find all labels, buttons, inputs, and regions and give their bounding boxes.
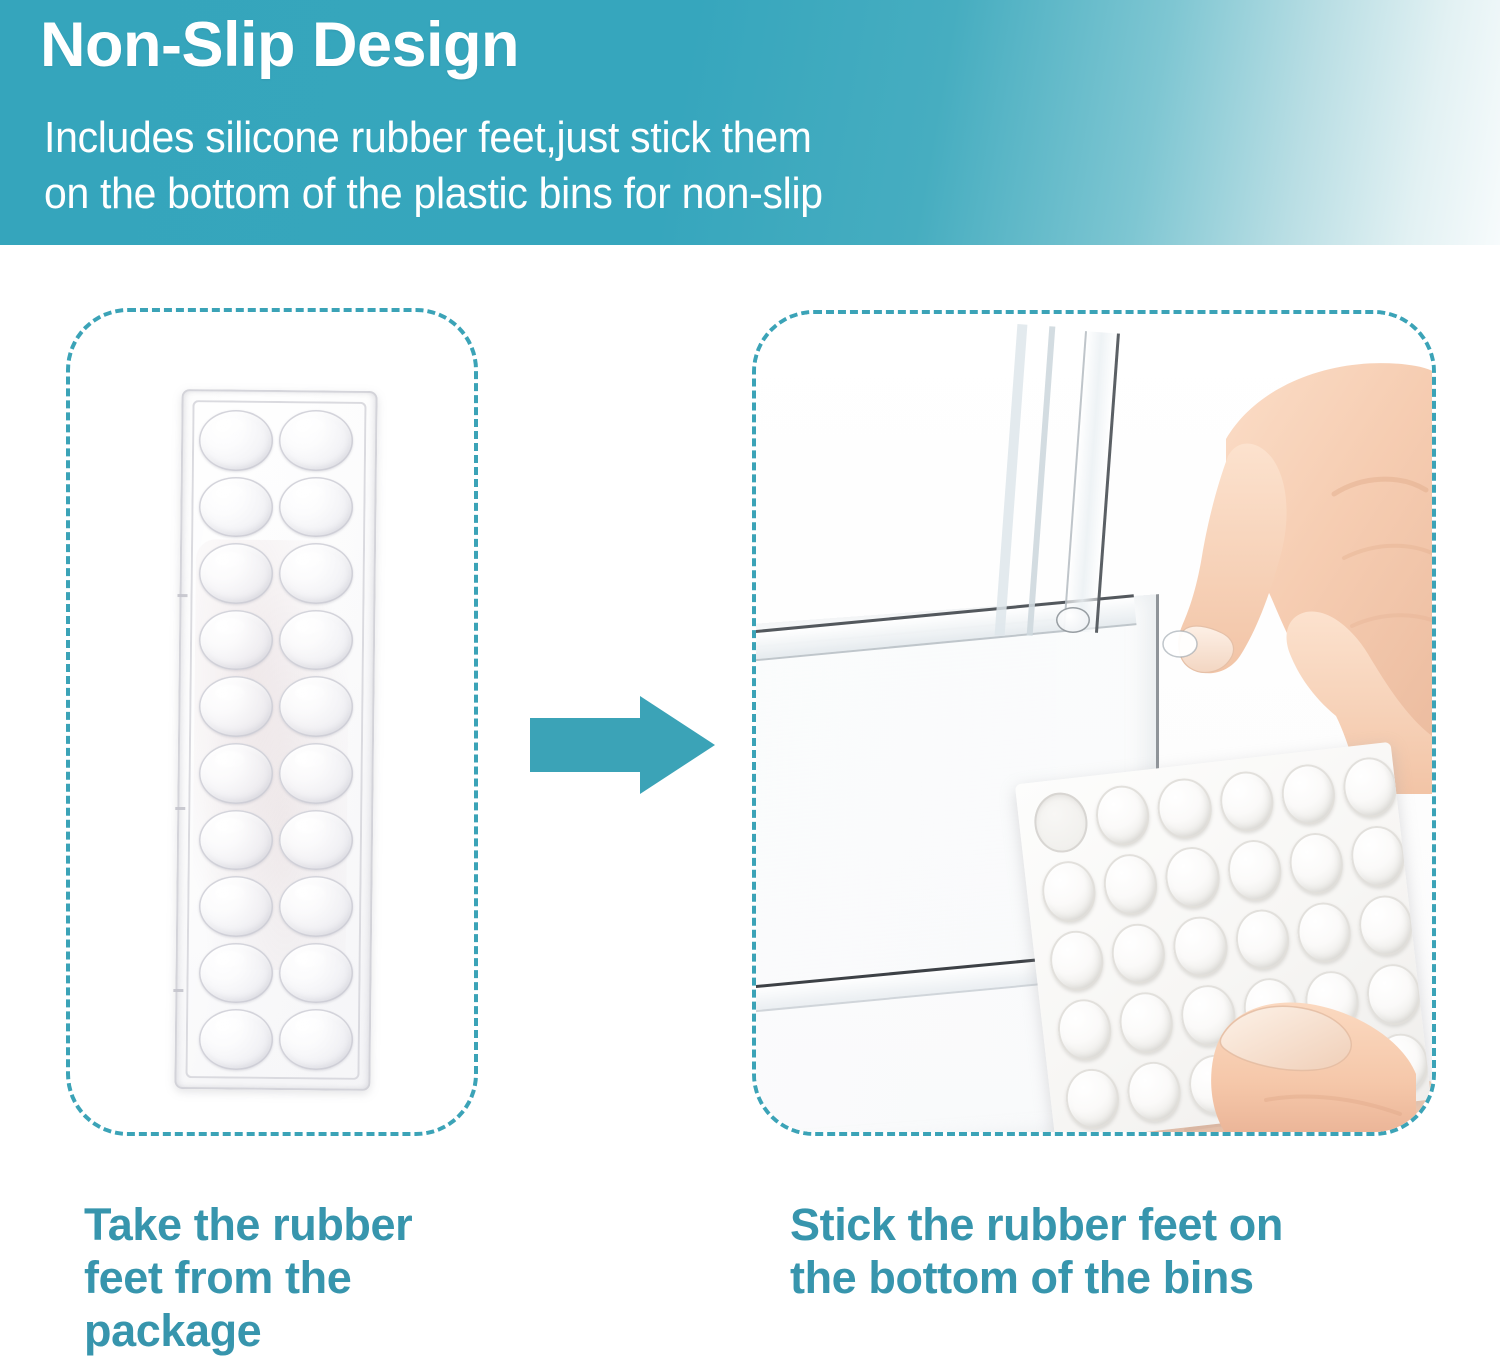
- rubber-foot-dome: [279, 1009, 353, 1070]
- hand-pinching-foot: [1076, 344, 1432, 794]
- rubber-foot-dome: [199, 543, 273, 604]
- bumper-pad: [1063, 1066, 1123, 1132]
- rubber-foot-dome: [199, 610, 273, 671]
- caption-right-line-2: the bottom of the bins: [790, 1251, 1450, 1304]
- bumper-pad: [1170, 914, 1230, 980]
- bumper-pad: [1286, 831, 1346, 897]
- rubber-foot-dome: [199, 1009, 273, 1070]
- rubber-foot-dome: [279, 810, 353, 871]
- caption-left-line-3: package: [84, 1304, 514, 1357]
- header-subtitle-line-1: Includes silicone rubber feet,just stick…: [44, 110, 1021, 166]
- bumper-pad: [1155, 776, 1215, 842]
- rubber-foot-dome: [199, 810, 273, 871]
- bumper-pad: [1217, 769, 1277, 835]
- bumper-pad: [1163, 845, 1223, 911]
- bumper-pad: [1356, 892, 1416, 958]
- rubber-foot-dome: [279, 543, 353, 604]
- page-title: Non-Slip Design: [40, 14, 519, 77]
- bumper-pad: [1109, 921, 1169, 987]
- header-subtitle: Includes silicone rubber feet,just stick…: [44, 110, 1021, 223]
- bumper-pad: [1340, 755, 1400, 821]
- bumper-pad-empty-slot: [1031, 790, 1091, 856]
- right-arrow-icon: [530, 690, 715, 800]
- rubber-foot-dome: [279, 610, 353, 671]
- rubber-foot-dome: [199, 876, 273, 937]
- rubber-foot-dome: [279, 676, 353, 737]
- caption-right: Stick the rubber feet on the bottom of t…: [790, 1198, 1450, 1304]
- rubber-foot-dome: [279, 743, 353, 804]
- rubber-foot-dome: [279, 477, 353, 538]
- step-panel-left: [66, 308, 478, 1136]
- bumper-pad: [1117, 990, 1177, 1056]
- caption-left: Take the rubber feet from the package: [84, 1198, 514, 1357]
- bumper-pad: [1101, 852, 1161, 918]
- caption-left-line-1: Take the rubber: [84, 1198, 514, 1251]
- thumb-over-sheet: [1186, 974, 1416, 1132]
- rubber-foot-dome: [279, 410, 353, 471]
- bin-and-hand-image: [756, 314, 1432, 1132]
- bumper-pad: [1093, 783, 1153, 849]
- bumper-pad: [1294, 900, 1354, 966]
- caption-right-line-1: Stick the rubber feet on: [790, 1198, 1450, 1251]
- bumper-pad: [1047, 928, 1107, 994]
- bumper-pad: [1055, 997, 1115, 1063]
- bin-inner-edge-a: [995, 324, 1028, 636]
- rubber-foot-dome: [279, 943, 353, 1004]
- rubber-foot-dome: [199, 743, 273, 804]
- blister-seam-bottom: [173, 989, 183, 992]
- rubber-foot-dome: [199, 943, 273, 1004]
- caption-left-line-2: feet from the: [84, 1251, 514, 1304]
- bin-inner-edge-b: [1027, 326, 1056, 636]
- bumper-pad: [1232, 907, 1292, 973]
- bumper-pad: [1124, 1059, 1184, 1125]
- header-banner: Non-Slip Design Includes silicone rubber…: [0, 0, 1500, 245]
- step-panel-right: [752, 310, 1436, 1136]
- bumper-pad: [1348, 824, 1408, 890]
- rubber-foot-dome: [199, 477, 273, 538]
- rubber-foot-dome: [199, 676, 273, 737]
- bumper-pad: [1278, 762, 1338, 828]
- bumper-pad: [1039, 859, 1099, 925]
- blister-seam-top: [177, 594, 187, 597]
- rubber-foot-dome: [279, 876, 353, 937]
- bumper-pad: [1224, 838, 1284, 904]
- blister-seam-mid: [175, 807, 185, 810]
- rubber-foot-dome: [199, 410, 273, 471]
- blister-package-image: [178, 390, 374, 1090]
- header-subtitle-line-2: on the bottom of the plastic bins for no…: [44, 166, 1021, 222]
- rubber-feet-grid: [197, 408, 355, 1072]
